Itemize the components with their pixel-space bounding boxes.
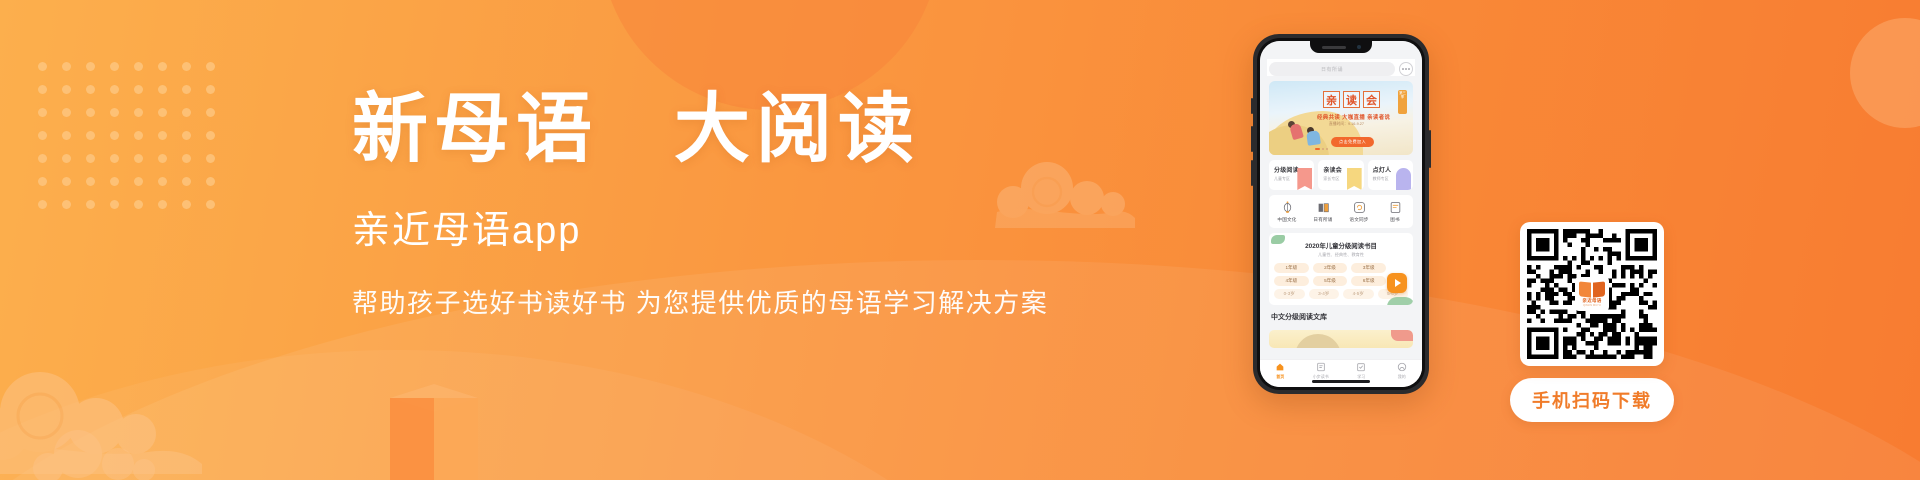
tab-profile[interactable]: 我的 (1382, 362, 1423, 380)
hero-title-char-1: 亲 (1323, 91, 1340, 108)
age-button[interactable]: 4-5岁 (1343, 289, 1374, 299)
search-input[interactable]: 日有所诵 (1269, 62, 1395, 76)
list-icon (1316, 362, 1326, 372)
quick-link-books[interactable]: 图书 (1377, 201, 1413, 223)
quick-link-label: 图书 (1390, 217, 1400, 223)
headline-part-2: 大阅读 (674, 88, 920, 172)
clipboard-icon (1356, 362, 1366, 372)
user-icon (1397, 362, 1407, 372)
leaf-decoration-bottom (1387, 297, 1413, 305)
banner-copy: 新母语 大阅读 亲近母语app 帮助孩子选好书读好书 为您提供优质的母语学习解决… (352, 88, 1052, 320)
hero-title-char-2: 读 (1343, 91, 1360, 108)
quick-link-textbook-sync[interactable]: 语文同步 (1341, 201, 1377, 223)
booklist-subtitle: 儿童性、经典性、教育性 (1274, 252, 1408, 258)
phone-power-button (1429, 130, 1431, 168)
tab-reading[interactable]: 小步读书 (1301, 362, 1342, 380)
camera-icon (1357, 45, 1361, 49)
quick-link-chinese-culture[interactable]: 中国文化 (1269, 201, 1305, 223)
phone-notch (1310, 41, 1372, 53)
sync-icon (1353, 201, 1366, 214)
library-card-block (1391, 330, 1413, 341)
logo-name-en: QINJIN MUYU (1583, 304, 1601, 307)
quick-links-row: 中国文化 日有所诵 (1269, 195, 1413, 228)
grade-row-primary-lower: 1年级 2年级 3年级 (1274, 263, 1408, 273)
lantern-icon (1281, 201, 1294, 214)
play-video-button[interactable] (1387, 273, 1407, 293)
scan-download-button[interactable]: 手机扫码下载 (1510, 378, 1674, 422)
play-icon (1395, 279, 1401, 287)
message-icon[interactable] (1399, 62, 1413, 76)
tab-label: 首页 (1276, 374, 1284, 380)
app-name: 亲近母语app (352, 207, 1052, 256)
grade-button[interactable]: 2年级 (1313, 263, 1348, 273)
tab-label: 学习 (1357, 374, 1365, 380)
open-book-icon (1317, 201, 1330, 214)
bookmark-icon (1347, 168, 1362, 190)
phone-screen: 日有所诵 亲 (1260, 41, 1422, 387)
entry-card-graded-reading[interactable]: 分级阅读 儿童专区 (1269, 160, 1314, 190)
hero-join-button[interactable]: 点击免费加入 (1331, 137, 1374, 147)
library-card-arc (1295, 334, 1341, 348)
grade-button[interactable]: 1年级 (1274, 263, 1309, 273)
bookmark-icon (1297, 168, 1312, 190)
tab-label: 小步读书 (1313, 374, 1329, 380)
page-title: 新母语 大阅读 (352, 88, 1052, 173)
qr-center-logo: 亲近母语 QINJIN MUYU (1575, 277, 1609, 311)
grade-button[interactable]: 6年级 (1351, 276, 1386, 286)
home-indicator (1312, 380, 1370, 383)
hero-title: 亲 读 会 (1323, 91, 1380, 108)
phone-mockup: 日有所诵 亲 (1253, 34, 1429, 394)
entry-card-parent-club[interactable]: 亲读会 家长专区 (1318, 160, 1363, 190)
decorative-cube (390, 384, 478, 480)
grade-button[interactable]: 4年级 (1274, 276, 1309, 286)
age-button[interactable]: 0-3岁 (1274, 289, 1305, 299)
promo-banner: 新母语 大阅读 亲近母语app 帮助孩子选好书读好书 为您提供优质的母语学习解决… (0, 0, 1920, 480)
phone-volume-down-button (1251, 160, 1253, 186)
booklist-panel: 2020年儿童分级阅读书目 儿童性、经典性、教育性 1年级 2年级 3年级 (1269, 233, 1413, 305)
entry-cards: 分级阅读 儿童专区 亲读会 家长专区 点灯人 教师专区 (1269, 160, 1413, 190)
search-row: 日有所诵 (1267, 59, 1415, 76)
phone-volume-up-button (1251, 126, 1253, 152)
phone-mute-switch (1251, 98, 1253, 114)
headline-part-1: 新母语 (352, 88, 598, 172)
child-figure-2 (1306, 130, 1321, 146)
tab-study[interactable]: 学习 (1341, 362, 1382, 380)
quick-link-label: 语文同步 (1349, 217, 1368, 223)
book-logo-icon (1579, 282, 1605, 297)
age-button[interactable]: 3-4岁 (1309, 289, 1340, 299)
quick-link-label: 中国文化 (1277, 217, 1296, 223)
quick-link-label: 日有所诵 (1313, 217, 1332, 223)
carousel-dots[interactable] (1315, 148, 1328, 150)
hero-title-char-3: 会 (1363, 91, 1380, 108)
tab-home[interactable]: 首页 (1260, 362, 1301, 380)
qr-download-block: 亲近母语 QINJIN MUYU 手机扫码下载 (1510, 222, 1674, 422)
hero-date: 直播时间：9.16-9.27 (1329, 122, 1364, 127)
library-card[interactable] (1269, 330, 1413, 348)
home-icon (1275, 362, 1285, 372)
quick-link-daily-recitation[interactable]: 日有所诵 (1305, 201, 1341, 223)
book-icon (1389, 201, 1402, 214)
tab-label: 我的 (1398, 374, 1406, 380)
tagline: 帮助孩子选好书读好书 为您提供优质的母语学习解决方案 (352, 283, 1052, 320)
hero-season-tag: 第三季 (1398, 90, 1407, 114)
phone-bezel: 日有所诵 亲 (1257, 38, 1425, 390)
library-section-title: 中文分级阅读文库 (1271, 312, 1411, 322)
grade-button[interactable]: 3年级 (1351, 263, 1386, 273)
cloud-decoration-bottom (32, 420, 182, 480)
decorative-circle-top-right (1850, 18, 1920, 128)
grade-button[interactable]: 5年级 (1313, 276, 1348, 286)
hero-subtitle: 经典共读 大咖直播 亲读者说 (1317, 113, 1390, 121)
person-icon (1396, 168, 1411, 190)
entry-card-teacher[interactable]: 点灯人 教师专区 (1368, 160, 1413, 190)
app-home-screen: 日有所诵 亲 (1260, 41, 1422, 387)
speaker-icon (1322, 46, 1346, 49)
decorative-dot-grid (38, 62, 215, 209)
booklist-title: 2020年儿童分级阅读书目 (1274, 241, 1408, 250)
qr-code-card[interactable]: 亲近母语 QINJIN MUYU (1520, 222, 1664, 366)
hero-banner[interactable]: 亲 读 会 第三季 经典共读 大咖直播 亲读者说 直播时间：9.16-9.27 … (1269, 81, 1413, 155)
